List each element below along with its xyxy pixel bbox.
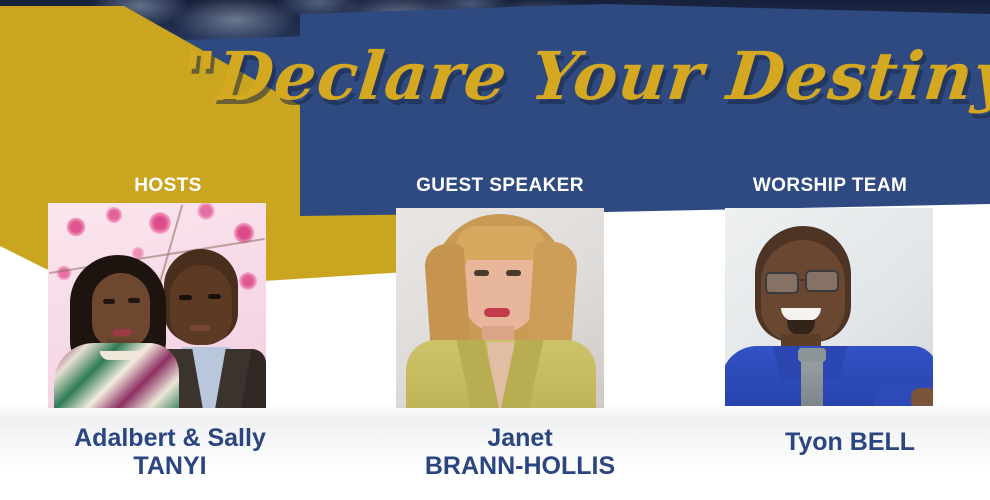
person-name-hosts-line2: TANYI: [20, 452, 320, 480]
flyer-canvas: "Declare Your Destiny" HOSTS GUEST SPEAK…: [0, 0, 990, 500]
role-label-hosts: HOSTS: [40, 175, 296, 197]
person-name-worship-team-line1: Tyon BELL: [710, 428, 990, 456]
person-name-guest-speaker: Janet BRANN-HOLLIS: [380, 424, 660, 480]
page-title: "Declare Your Destiny": [177, 37, 990, 115]
person-name-worship-team: Tyon BELL: [710, 428, 990, 456]
portrait-photo-guest-speaker-art: [396, 208, 604, 408]
portrait-photo-guest-speaker: [396, 208, 604, 408]
flyer-title-container: "Declare Your Destiny": [250, 18, 980, 133]
portrait-photo-hosts: [48, 203, 266, 408]
portrait-photo-hosts-art: [48, 203, 266, 408]
person-name-guest-speaker-line2: BRANN-HOLLIS: [380, 452, 660, 480]
person-name-hosts-line1: Adalbert & Sally: [20, 424, 320, 452]
person-name-guest-speaker-line1: Janet: [380, 424, 660, 452]
portrait-photo-worship-team: [725, 208, 933, 406]
role-label-guest-speaker: GUEST SPEAKER: [380, 175, 620, 197]
portrait-photo-worship-team-art: [725, 208, 933, 406]
role-label-worship-team: WORSHIP TEAM: [710, 175, 950, 197]
person-name-hosts: Adalbert & Sally TANYI: [20, 424, 320, 480]
